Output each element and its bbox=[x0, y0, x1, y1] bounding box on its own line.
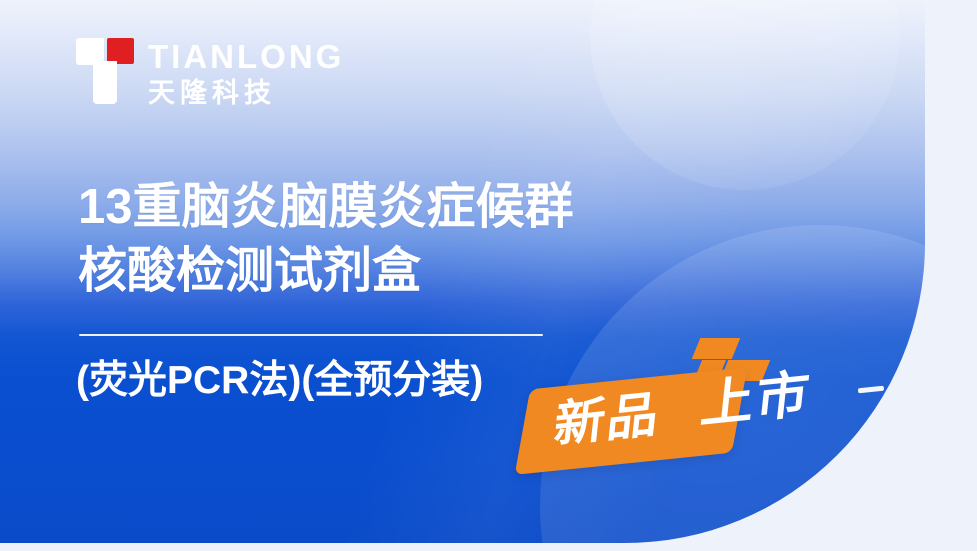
accent-bar-a bbox=[692, 338, 740, 359]
headline-block: 13重脑炎脑膜炎症候群 核酸检测试剂盒 bbox=[78, 176, 778, 303]
brand-logo: TIANLONG 天隆科技 bbox=[76, 38, 344, 108]
launch-badge: 新品 上市 bbox=[520, 330, 880, 490]
brand-chinese-name: 天隆科技 bbox=[148, 78, 344, 108]
brand-wordmark: TIANLONG 天隆科技 bbox=[148, 38, 344, 108]
badge-outline-label: 上市 bbox=[698, 368, 813, 431]
headline-line-1: 13重脑炎脑膜炎症候群 bbox=[78, 176, 778, 240]
headline-line-2: 核酸检测试剂盒 bbox=[78, 240, 778, 304]
bottom-strip bbox=[0, 543, 977, 551]
poster-canvas: TIANLONG 天隆科技 13重脑炎脑膜炎症候群 核酸检测试剂盒 (荧光PCR… bbox=[0, 0, 977, 551]
title-divider bbox=[79, 334, 543, 336]
tianlong-t-mark-icon bbox=[76, 38, 134, 104]
logo-block-stem bbox=[93, 63, 117, 104]
brand-latin-name: TIANLONG bbox=[148, 40, 344, 73]
hero-panel: TIANLONG 天隆科技 13重脑炎脑膜炎症候群 核酸检测试剂盒 (荧光PCR… bbox=[0, 0, 925, 543]
subtitle-text: (荧光PCR法)(全预分装) bbox=[76, 358, 483, 405]
